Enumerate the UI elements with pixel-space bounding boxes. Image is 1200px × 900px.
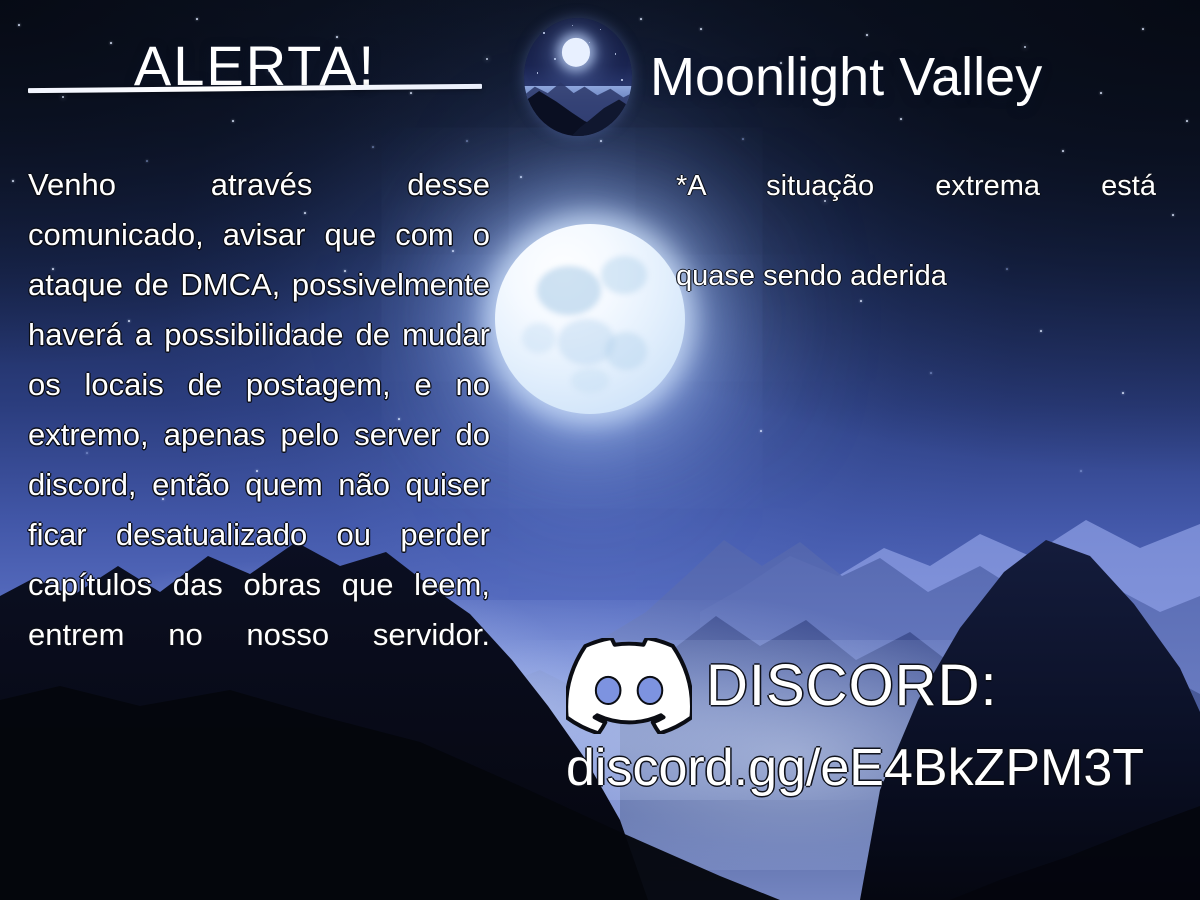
brand-block: Moonlight Valley xyxy=(524,18,1184,136)
discord-invite-link[interactable]: discord.gg/eE4BkZPM3T xyxy=(566,742,1144,794)
note-line-2: quase sendo aderida xyxy=(676,260,947,292)
discord-row[interactable]: DISCORD: xyxy=(566,638,998,734)
discord-logo-icon xyxy=(566,638,692,734)
extreme-situation-note: *A situação extrema está quase sendo ade… xyxy=(676,164,1156,299)
note-line-1: *A situação extrema está xyxy=(676,164,1156,254)
announcement-paragraph: Venho através desse comunicado, avisar q… xyxy=(28,160,490,710)
announcement-body: Venho através desse comunicado, avisar q… xyxy=(28,160,490,710)
poster-canvas: ALERTA! Moonlight Valley Venho através d… xyxy=(0,0,1200,900)
discord-label: DISCORD: xyxy=(706,657,998,715)
brand-title: Moonlight Valley xyxy=(650,50,1042,104)
moonlit-valley-circle-logo-icon xyxy=(524,18,632,136)
